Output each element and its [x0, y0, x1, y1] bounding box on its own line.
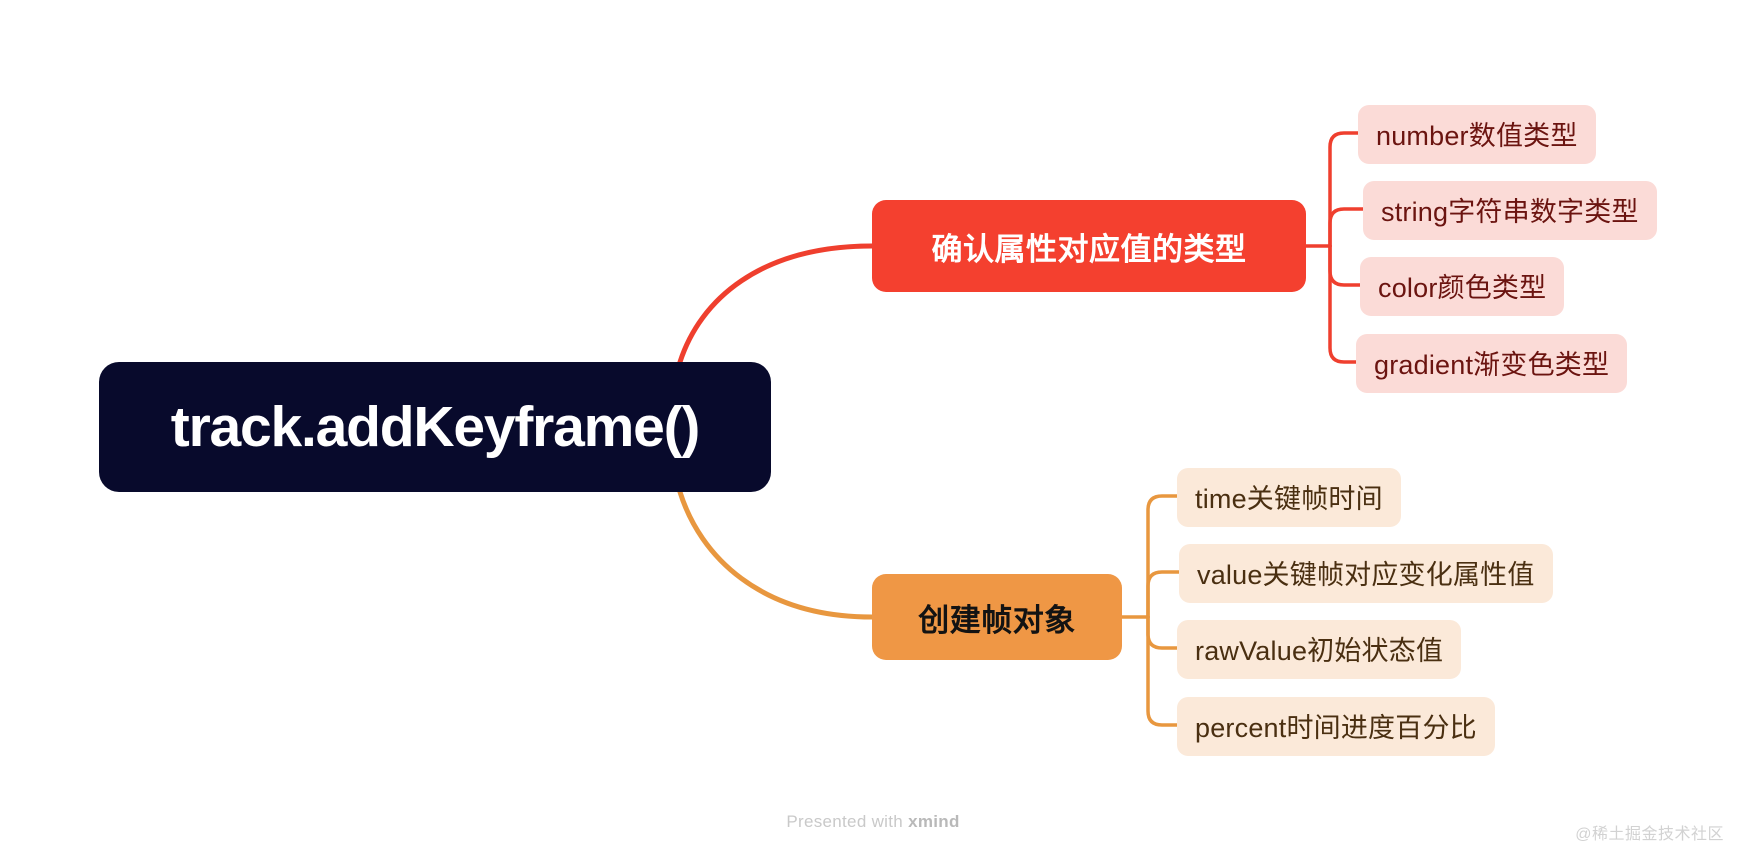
edge-root-to-type [680, 246, 872, 362]
xmind-attribution: Presented with xmind [0, 812, 1746, 832]
leaf-node-percent-label: percent时间进度百分比 [1195, 706, 1477, 745]
edge-frame-leaf-0 [1148, 496, 1177, 617]
edge-type-leaf-3 [1330, 246, 1356, 362]
source-watermark: @稀土掘金技术社区 [1575, 820, 1724, 844]
xmind-brand-text: xmind [908, 812, 960, 831]
root-node-label: track.addKeyframe() [171, 394, 699, 460]
edge-type-leaf-2 [1330, 246, 1360, 285]
leaf-node-string[interactable]: string字符串数字类型 [1363, 181, 1657, 240]
leaf-node-color-label: color颜色类型 [1378, 266, 1546, 305]
edge-root-to-frame [680, 492, 872, 617]
leaf-node-rawvalue[interactable]: rawValue初始状态值 [1177, 620, 1461, 679]
edge-type-leaf-0 [1330, 133, 1358, 246]
leaf-node-number[interactable]: number数值类型 [1358, 105, 1596, 164]
edge-type-leaf-1 [1330, 209, 1363, 246]
root-node[interactable]: track.addKeyframe() [99, 362, 771, 492]
branch-node-type-label: 确认属性对应值的类型 [932, 224, 1247, 269]
leaf-node-rawvalue-label: rawValue初始状态值 [1195, 629, 1443, 668]
leaf-node-time-label: time关键帧时间 [1195, 477, 1383, 516]
branch-node-frame[interactable]: 创建帧对象 [872, 574, 1122, 660]
leaf-node-value-label: value关键帧对应变化属性值 [1197, 553, 1535, 592]
leaf-node-color[interactable]: color颜色类型 [1360, 257, 1564, 316]
branch-node-frame-label: 创建帧对象 [918, 595, 1076, 640]
leaf-node-number-label: number数值类型 [1376, 114, 1578, 153]
leaf-node-string-label: string字符串数字类型 [1381, 190, 1639, 229]
edge-frame-leaf-3 [1148, 617, 1177, 725]
leaf-node-percent[interactable]: percent时间进度百分比 [1177, 697, 1495, 756]
mindmap-canvas[interactable]: track.addKeyframe() 确认属性对应值的类型 number数值类… [0, 0, 1746, 856]
branch-node-type[interactable]: 确认属性对应值的类型 [872, 200, 1306, 292]
leaf-node-time[interactable]: time关键帧时间 [1177, 468, 1401, 527]
edge-frame-leaf-1 [1148, 572, 1179, 617]
edge-frame-leaf-2 [1148, 617, 1177, 648]
leaf-node-gradient[interactable]: gradient渐变色类型 [1356, 334, 1627, 393]
leaf-node-gradient-label: gradient渐变色类型 [1374, 343, 1609, 382]
presented-with-text: Presented with [786, 812, 908, 831]
leaf-node-value[interactable]: value关键帧对应变化属性值 [1179, 544, 1553, 603]
